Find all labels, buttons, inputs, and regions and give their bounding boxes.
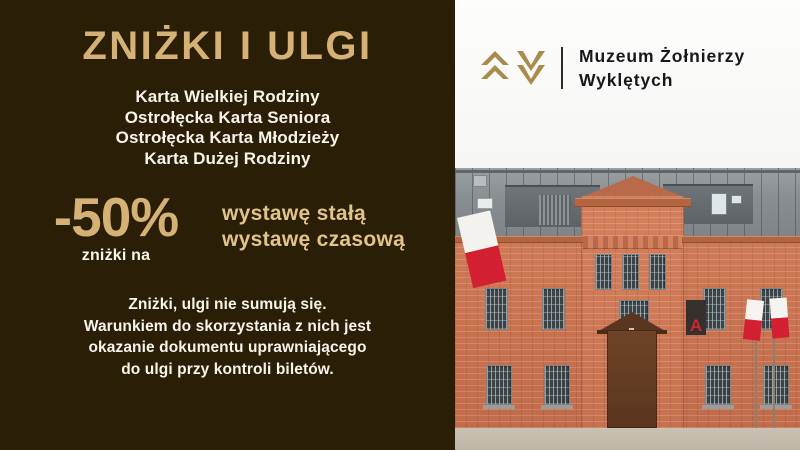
list-item: wystawę stałą: [222, 201, 405, 227]
discount-caption: zniżki na: [82, 247, 150, 265]
flag-red-stripe: [771, 317, 789, 338]
museum-logo: Muzeum Żołnierzy Wyklętych: [481, 44, 745, 92]
corbel-band: [583, 236, 682, 249]
museum-name-line: Wyklętych: [579, 68, 745, 92]
window: [703, 288, 726, 330]
pavilion-sign-letter: A: [690, 318, 702, 333]
cornice: [575, 198, 691, 207]
list-item: Karta Wielkiej Rodziny: [116, 87, 340, 108]
window: [622, 254, 639, 290]
window-sill: [760, 405, 792, 409]
dormer-vent: [539, 195, 571, 225]
window: [763, 365, 789, 405]
discount-value: -50%: [54, 190, 178, 244]
museum-identity-panel: A: [455, 0, 800, 450]
dormer-window: [711, 193, 727, 215]
footnote-line: do ulgi przy kontroli biletów.: [0, 359, 455, 381]
window: [486, 365, 512, 405]
entrance-door: [607, 330, 657, 428]
dormer-window: [731, 195, 742, 204]
window: [595, 254, 612, 290]
footnote-line: Warunkiem do skorzystania z nich jest: [0, 316, 455, 338]
pavilion-sign: A: [686, 300, 706, 335]
polish-flag-small: [770, 297, 790, 338]
eligible-cards-list: Karta Wielkiej Rodziny Ostrołęcka Karta …: [116, 87, 340, 169]
window: [542, 288, 565, 330]
footnote-line: Zniżki, ulgi nie sumują się.: [0, 294, 455, 316]
window: [544, 365, 570, 405]
museum-name-line: Muzeum Żołnierzy: [579, 44, 745, 68]
window: [705, 365, 731, 405]
list-item: Ostrołęcka Karta Seniora: [116, 108, 340, 129]
flag-white-stripe: [770, 297, 788, 318]
window-sill: [483, 405, 515, 409]
chevron-logo-icon: [481, 45, 547, 91]
discount-info-panel: ZNIŻKI I ULGI Karta Wielkiej Rodziny Ost…: [0, 0, 455, 450]
window: [485, 288, 508, 330]
flag-red-stripe: [743, 319, 762, 341]
list-item: wystawę czasową: [222, 227, 405, 253]
window: [649, 254, 666, 290]
list-item: Karta Dużej Rodziny: [116, 149, 340, 170]
promo-poster: ZNIŻKI I ULGI Karta Wielkiej Rodziny Ost…: [0, 0, 800, 450]
page-title: ZNIŻKI I ULGI: [82, 26, 372, 66]
window-sill: [541, 405, 573, 409]
ground: [455, 428, 800, 450]
terms-footnote: Zniżki, ulgi nie sumują się. Warunkiem d…: [0, 294, 455, 380]
roof-ridge: [455, 170, 800, 173]
flag-white-stripe: [745, 299, 764, 321]
skylight: [477, 198, 493, 209]
footnote-line: okazanie dokumentu uprawniającego: [0, 337, 455, 359]
discount-section: -50% zniżki na wystawę stałą wystawę cza…: [0, 190, 455, 265]
exhibits-list: wystawę stałą wystawę czasową: [222, 201, 405, 253]
discount-amount-block: -50% zniżki na: [16, 190, 216, 265]
museum-name: Muzeum Żołnierzy Wyklętych: [579, 44, 745, 92]
list-item: Ostrołęcka Karta Młodzieży: [116, 128, 340, 149]
logo-divider: [561, 47, 563, 89]
chimney: [473, 175, 487, 187]
window-sill: [702, 405, 734, 409]
